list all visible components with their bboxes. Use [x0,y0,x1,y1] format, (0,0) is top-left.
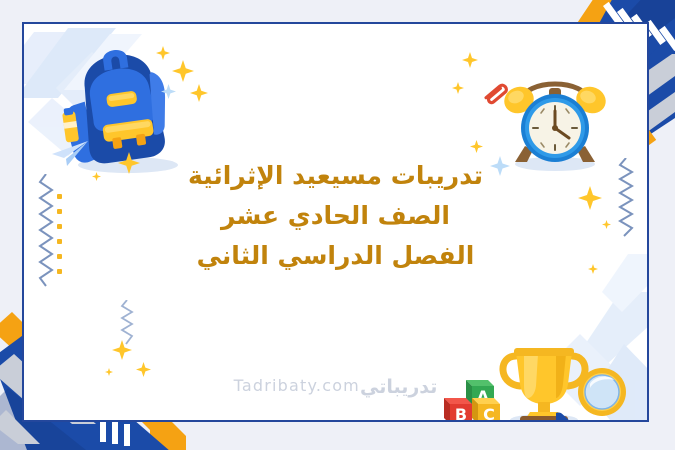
sparkle-icon [470,140,483,153]
sparkle-icon [161,84,176,99]
block-b: B [444,398,472,420]
paperclip-icon [482,79,516,113]
sparkle-icon [172,60,194,82]
content-card: A B C [22,22,649,422]
svg-text:C: C [483,405,495,420]
block-c: C [472,398,500,420]
site-watermark: Tadribaty.comتدريباتي [24,376,647,398]
title-line-1: تدريبات مسيعيد الإثرائية [24,156,647,196]
svg-text:B: B [455,405,467,420]
sparkle-icon [190,84,208,102]
title-line-3: الفصل الدراسي الثاني [24,236,647,276]
sparkle-icon [462,52,478,68]
watermark-latin: Tadribaty.com [234,376,360,395]
cover-page: A B C [0,0,675,450]
sparkle-icon [452,82,464,94]
title-line-2: الصف الحادي عشر [24,196,647,236]
title-block: تدريبات مسيعيد الإثرائية الصف الحادي عشر… [24,156,647,276]
sparkle-icon [105,368,113,376]
watermark-arabic: تدريباتي [360,376,437,398]
sparkle-icon [156,46,170,60]
sparkle-icon [136,362,151,377]
sparkle-icon [112,340,132,360]
